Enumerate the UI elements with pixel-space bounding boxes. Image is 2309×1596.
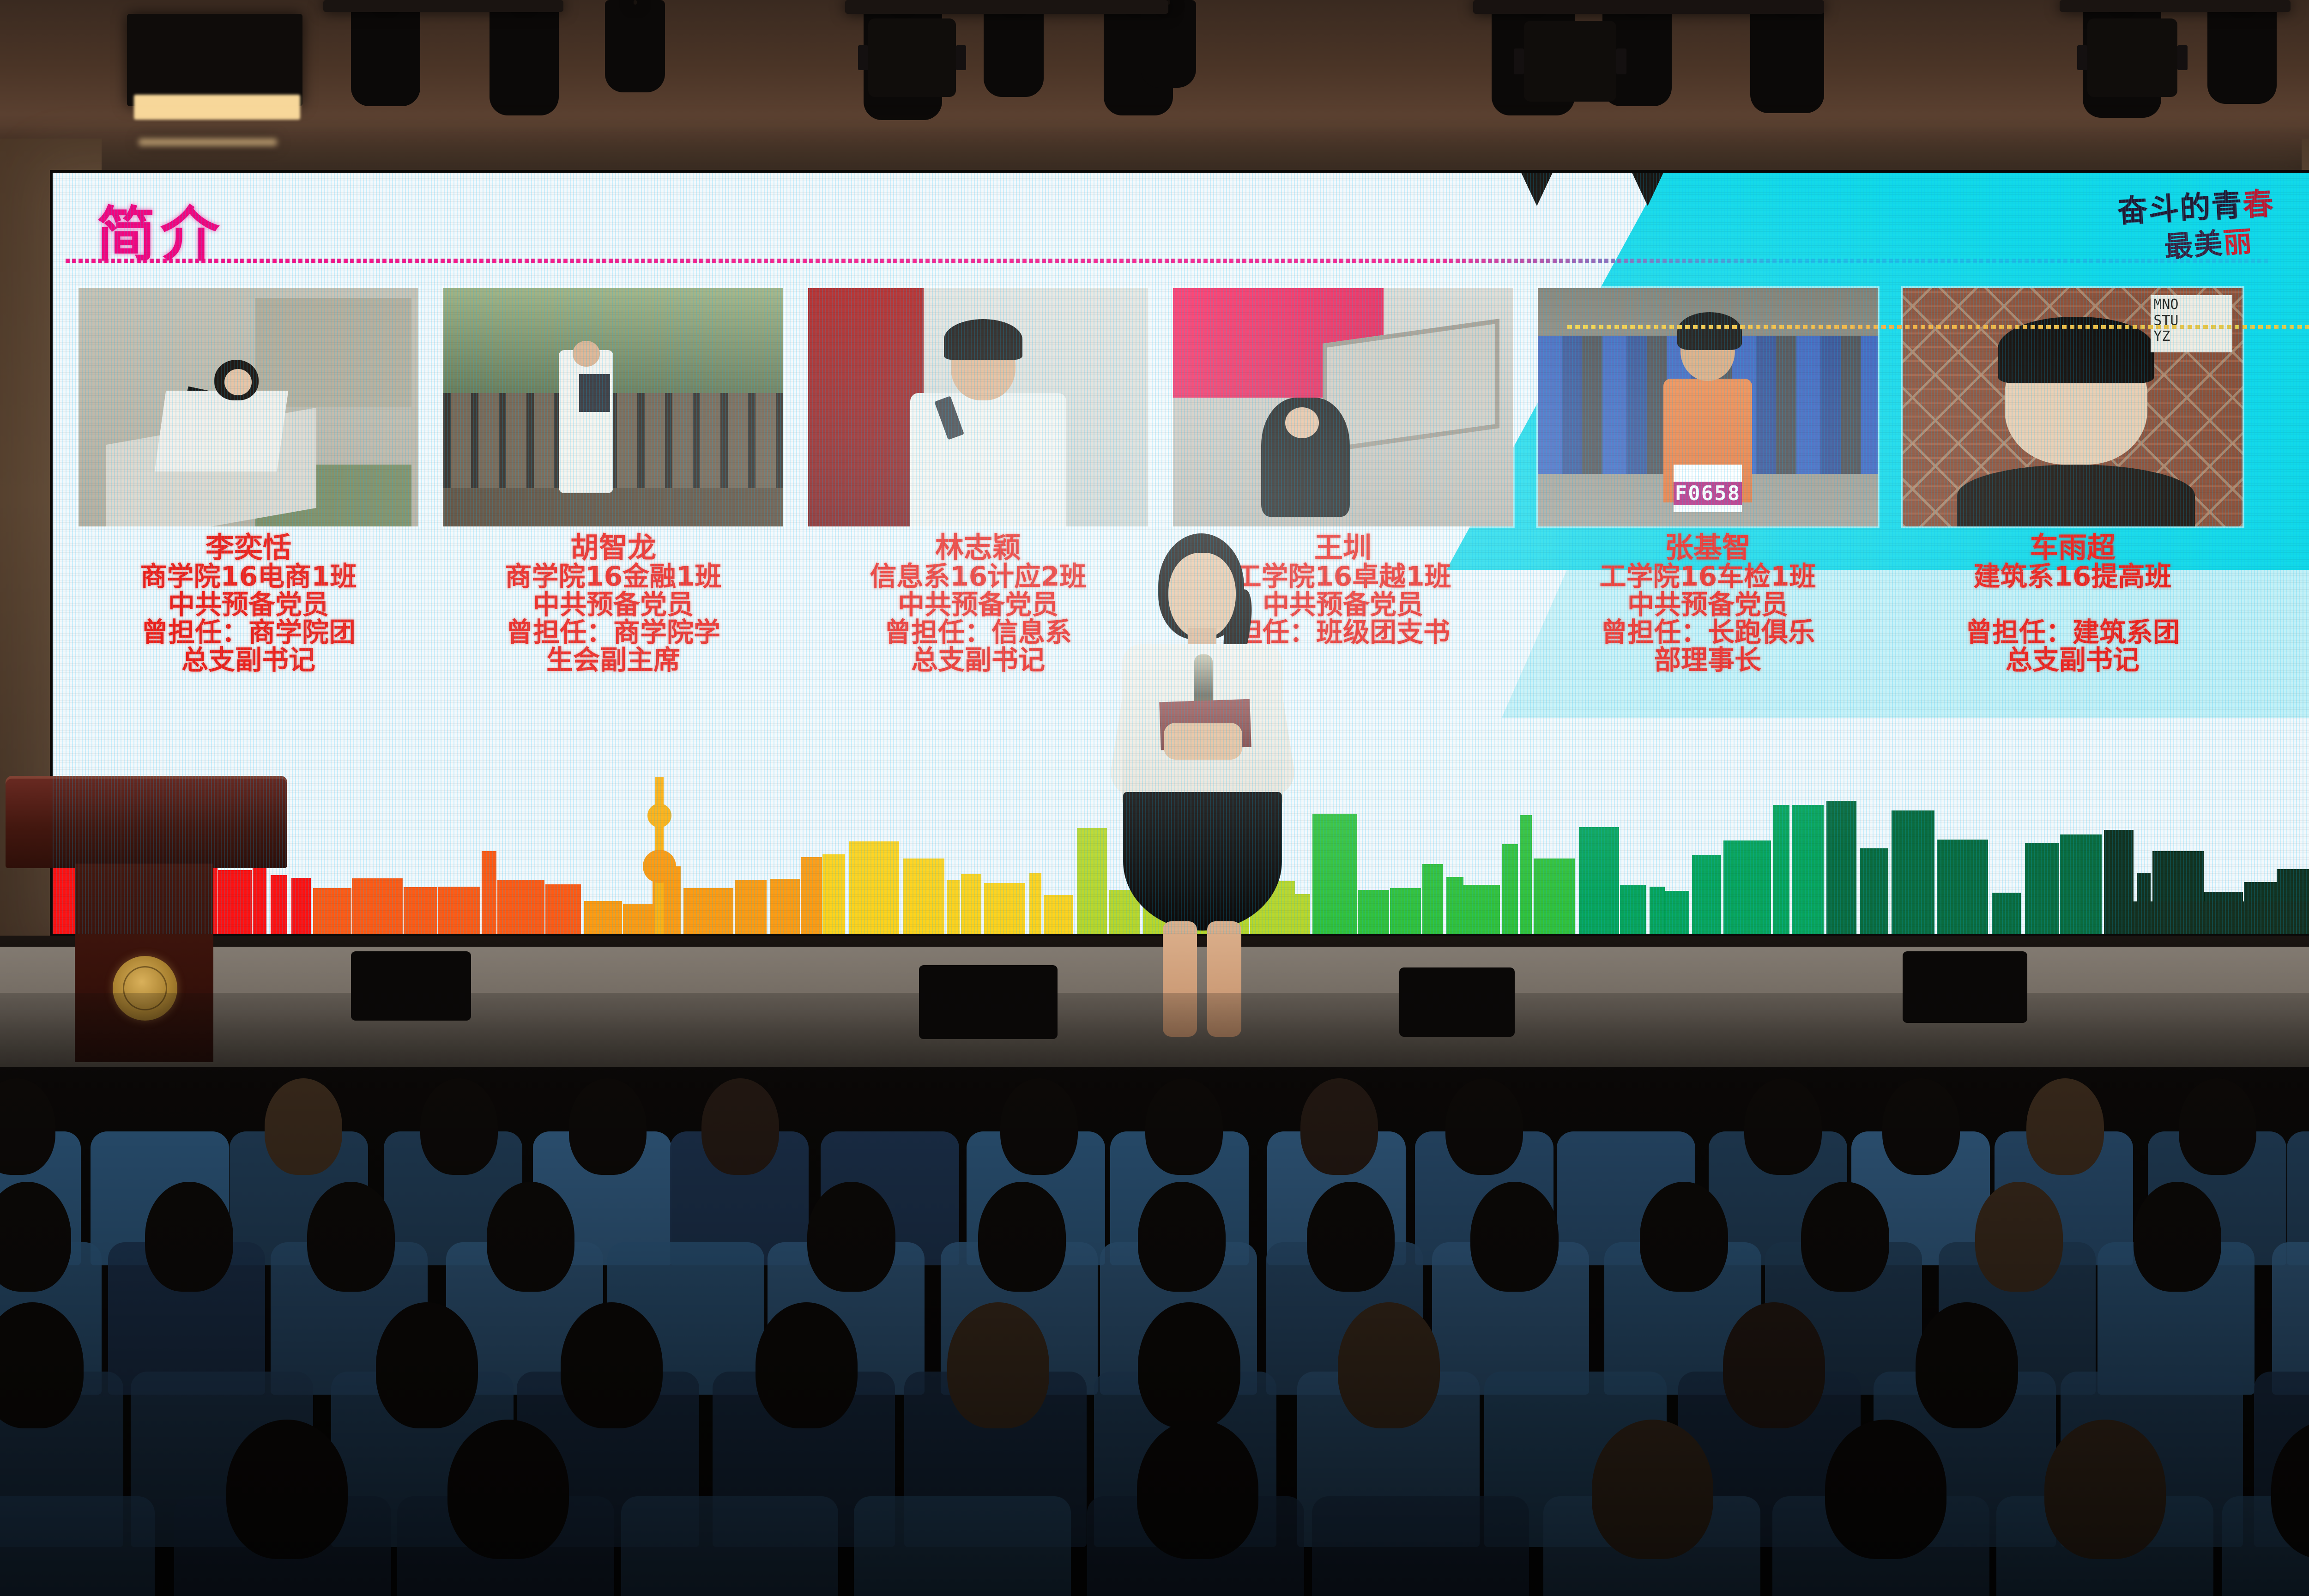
audience-seat [0, 1496, 155, 1596]
audience-head [226, 1420, 348, 1559]
presenter [1104, 533, 1298, 1041]
skyline-building [1692, 855, 1721, 934]
fresnel-light-1 [868, 18, 956, 97]
audience-head [1145, 1078, 1223, 1175]
skyline-building [404, 887, 437, 934]
skyline-building [1077, 828, 1107, 934]
auditorium-scene: 简介 奋斗的青春 最美丽 李奕恬商学院16电商1班中共预备党员曾担任：商学院团总… [0, 0, 2309, 1596]
portrait-graduate-on-pink-backdrop-art [1173, 288, 1513, 526]
audience-head [1975, 1182, 2063, 1292]
triangle-marker-1 [1521, 173, 1553, 206]
skyline-building [1665, 891, 1689, 934]
audience-head [0, 1078, 55, 1175]
skyline-building [1463, 885, 1500, 934]
audience-head [1300, 1078, 1378, 1175]
person-text-block: 林志颖信息系16计应2班中共预备党员曾担任：信息系总支副书记 [870, 533, 1086, 674]
person-role-line-2: 生会副主席 [505, 646, 721, 674]
skyline-tower-sphere-lower [643, 850, 676, 883]
skyline-building [1992, 893, 2021, 934]
portrait-marathon-runner-art: F0658 [1538, 288, 1878, 526]
skyline-building [770, 879, 800, 934]
person-class: 商学院16金融1班 [505, 562, 721, 590]
skyline-building [683, 888, 733, 934]
skyline-building [801, 857, 822, 934]
person-role-line-1: 曾担任：商学院学 [505, 618, 721, 646]
skyline-bridge [2131, 901, 2309, 934]
audience-head [569, 1078, 647, 1175]
presenter-face [1168, 553, 1236, 639]
person-class: 工学院16车检1班 [1599, 562, 1816, 590]
skyline-building [291, 878, 311, 934]
person-card: 李奕恬商学院16电商1班中共预备党员曾担任：商学院团总支副书记 [71, 288, 426, 842]
skyline-building [947, 880, 960, 934]
person-name: 张基智 [1599, 533, 1816, 562]
portrait-man-on-bridge-art [443, 288, 783, 526]
person-class: 信息系16计应2班 [870, 562, 1086, 590]
skyline-building [1446, 877, 1463, 934]
skyline-building [1620, 885, 1646, 934]
skyline-building [313, 888, 351, 934]
audience-head [807, 1182, 895, 1292]
audience-seat [621, 1496, 838, 1596]
person-photo [79, 288, 418, 526]
light-glow-panel [134, 95, 300, 120]
audience-head [1137, 1420, 1258, 1559]
skyline-building [1723, 840, 1771, 934]
skyline-building [438, 887, 480, 934]
skyline-building [1502, 844, 1518, 934]
skyline-building [1579, 827, 1619, 934]
fresnel-light-2 [1524, 21, 1616, 102]
skyline-building [2025, 843, 2059, 934]
skyline-building [1534, 858, 1575, 934]
person-role-line-1: 曾担任：建筑系团 [1965, 618, 2180, 646]
skyline-building [1358, 890, 1389, 934]
audience-head [1801, 1182, 1889, 1292]
skyline-building [1029, 873, 1041, 934]
audience-head [1307, 1182, 1395, 1292]
person-name: 车雨超 [1965, 533, 2180, 562]
audience-head [487, 1182, 574, 1292]
person-party-status: 中共预备党员 [1599, 591, 1816, 618]
person-photo: MNOSTUYZ [1903, 288, 2243, 526]
portrait-girl-at-railing-art [79, 288, 418, 526]
person-card: F0658张基智工学院16车检1班中共预备党员曾担任：长跑俱乐部理事长 [1530, 288, 1885, 842]
podium-desktop [6, 776, 287, 868]
audience-head [307, 1182, 395, 1292]
person-photo [1173, 288, 1513, 526]
person-photo [808, 288, 1148, 526]
audience-head [420, 1078, 498, 1175]
person-role-line-1: 曾担任：商学院团 [140, 618, 357, 646]
audience-head [1640, 1182, 1728, 1292]
audience-head [1744, 1078, 1822, 1175]
stage-light-1 [351, 0, 420, 106]
skyline-building [1937, 840, 1988, 934]
person-name: 李奕恬 [140, 533, 357, 562]
audience-head [1338, 1302, 1440, 1429]
audience-head [2134, 1182, 2221, 1292]
stage-light-5 [984, 0, 1044, 97]
stage-light-3 [605, 0, 665, 92]
person-photo [443, 288, 783, 526]
audience-head [2179, 1078, 2256, 1175]
alphabet-poster: MNOSTUYZ [2151, 295, 2232, 352]
person-class: 建筑系16提高班 [1965, 562, 2180, 590]
audience-head [1470, 1182, 1558, 1292]
person-photo: F0658 [1538, 288, 1878, 526]
stage-light-2 [490, 0, 559, 115]
person-card: 林志颖信息系16计应2班中共预备党员曾担任：信息系总支副书记 [801, 288, 1155, 842]
person-role-line-1: 曾担任：信息系 [870, 618, 1086, 646]
skyline-building [497, 880, 544, 934]
person-text-block: 车雨超建筑系16提高班 曾担任：建筑系团总支副书记 [1965, 533, 2180, 674]
person-role-line-2: 总支副书记 [1965, 646, 2180, 674]
audience-head [2026, 1078, 2104, 1175]
person-name: 胡智龙 [505, 533, 721, 562]
person-role-line-2: 总支副书记 [870, 646, 1086, 674]
audience-head [376, 1302, 478, 1429]
person-card: 胡智龙商学院16金融1班中共预备党员曾担任：商学院学生会副主席 [436, 288, 791, 842]
audience-head [447, 1420, 569, 1559]
light-housing-panel [127, 14, 302, 106]
audience-head [1138, 1182, 1226, 1292]
audience-head [756, 1302, 858, 1429]
skyline-building [903, 858, 944, 934]
person-party-status: 中共预备党员 [870, 591, 1086, 618]
triangle-marker-2 [1632, 173, 1663, 206]
logo-line-2: 最美丽 [2163, 218, 2254, 265]
skyline-building [1650, 887, 1665, 934]
portrait-man-brick-wall-art: MNOSTUYZ [1903, 288, 2243, 526]
person-role-line-2: 总支副书记 [140, 646, 357, 674]
truss-bar-far-right [2060, 0, 2291, 12]
audience-seat [854, 1496, 1071, 1596]
audience-head [947, 1302, 1049, 1429]
audience-head [2044, 1420, 2166, 1559]
audience-head [1723, 1302, 1825, 1429]
truss-bar-right [1473, 0, 1824, 14]
audience-head [1916, 1302, 2018, 1429]
skyline-building [482, 851, 496, 934]
presenter-skirt [1123, 792, 1282, 931]
slide-title: 简介 [97, 187, 224, 272]
portrait-man-with-microphone-art [808, 288, 1148, 526]
stage-light-rod-3 [634, 0, 637, 5]
audience-head [1882, 1078, 1960, 1175]
truss-bar-center [845, 0, 1168, 14]
person-party-status [1965, 591, 2180, 618]
person-text-block: 张基智工学院16车检1班中共预备党员曾担任：长跑俱乐部理事长 [1599, 533, 1816, 674]
person-card: MNOSTUYZ车雨超建筑系16提高班 曾担任：建筑系团总支副书记 [1895, 288, 2250, 842]
audience-head [978, 1182, 1066, 1292]
skyline-building [961, 874, 981, 934]
skyline-building [1422, 864, 1443, 934]
person-class: 商学院16电商1班 [140, 562, 357, 590]
skyline-building [984, 883, 1025, 934]
person-party-status: 中共预备党员 [505, 591, 721, 618]
audience-area [0, 993, 2309, 1596]
audience-head [561, 1302, 663, 1429]
audience-head [1592, 1420, 1713, 1559]
person-party-status: 中共预备党员 [140, 591, 357, 618]
person-text-block: 胡智龙商学院16金融1班中共预备党员曾担任：商学院学生会副主席 [505, 533, 721, 674]
skyline-building [2060, 834, 2102, 934]
audience-head [265, 1078, 342, 1175]
skyline-building [849, 841, 899, 934]
slide-logo-calligraphy: 奋斗的青春 最美丽 [2098, 183, 2292, 271]
audience-head [701, 1078, 779, 1175]
audience-head [1445, 1078, 1523, 1175]
light-spill [139, 139, 277, 146]
skyline-building [2104, 830, 2134, 934]
person-role-line-1: 曾担任：长跑俱乐 [1599, 618, 1816, 646]
audience-seat [1312, 1496, 1529, 1596]
skyline-building [584, 901, 622, 934]
audience-head [1825, 1420, 1946, 1559]
person-text-block: 李奕恬商学院16电商1班中共预备党员曾担任：商学院团总支副书记 [140, 533, 357, 674]
stage-light-12 [2207, 0, 2277, 104]
secondary-dotted-rule [1567, 325, 2309, 329]
truss-bar-left [323, 0, 563, 12]
skyline-building [1044, 895, 1073, 934]
title-divider-rule [66, 259, 2268, 263]
person-role-line-2: 部理事长 [1599, 646, 1816, 674]
skyline-building [1390, 888, 1421, 934]
fresnel-light-3 [2087, 18, 2177, 97]
skyline-building [1860, 848, 1888, 934]
audience-head [1000, 1078, 1078, 1175]
person-name: 林志颖 [870, 533, 1086, 562]
skyline-building [352, 878, 403, 934]
audience-head [1138, 1302, 1240, 1429]
audience-head [145, 1182, 233, 1292]
skyline-building [735, 880, 767, 934]
race-bib-number: F0658 [1674, 482, 1741, 505]
skyline-building [822, 854, 845, 934]
skyline-building [623, 904, 653, 934]
stage-light-10 [1750, 0, 1824, 113]
presenter-hands [1164, 723, 1242, 760]
skyline-building [545, 884, 581, 934]
